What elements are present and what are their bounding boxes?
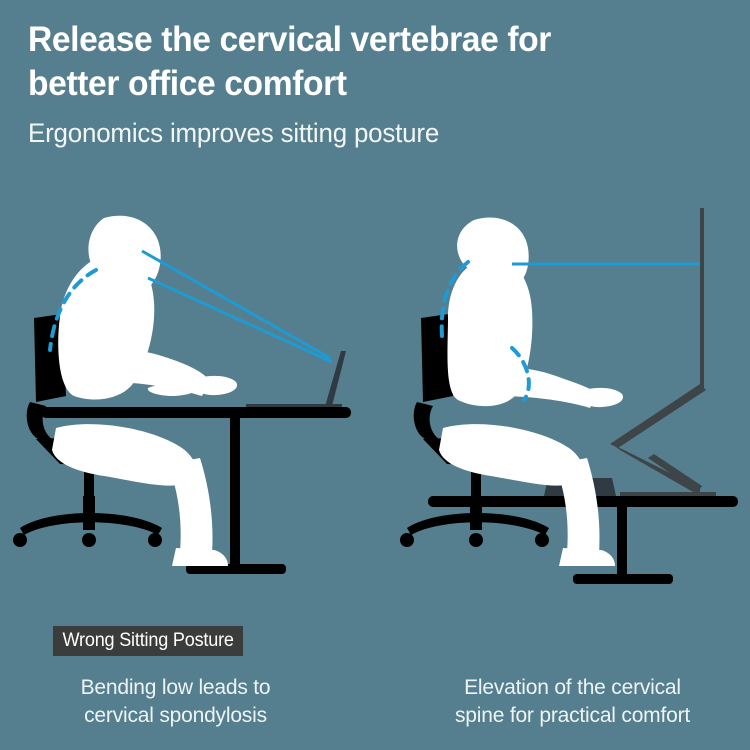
page-subtitle: Ergonomics improves sitting posture xyxy=(28,116,700,150)
caption-wrong: Bending low leads to cervical spondylosi… xyxy=(0,674,363,730)
sight-line-wrong xyxy=(142,251,332,362)
footer: Wrong Sitting Posture Bending low leads … xyxy=(0,612,750,750)
correct-posture-illustration xyxy=(400,208,738,584)
panel-wrong: Wrong Sitting Posture Bending low leads … xyxy=(0,612,375,750)
infographic-poster: Release the cervical vertebrae for bette… xyxy=(0,0,750,750)
wrong-posture-illustration xyxy=(13,216,351,574)
caption-correct: Elevation of the cervical spine for prac… xyxy=(385,674,750,730)
header: Release the cervical vertebrae for bette… xyxy=(28,18,728,150)
illustration-area xyxy=(0,196,750,606)
panel-correct: Correct sitting position Elevation of th… xyxy=(375,612,750,750)
page-title: Release the cervical vertebrae for bette… xyxy=(28,18,700,106)
status-badge-wrong: Wrong Sitting Posture xyxy=(53,626,243,656)
